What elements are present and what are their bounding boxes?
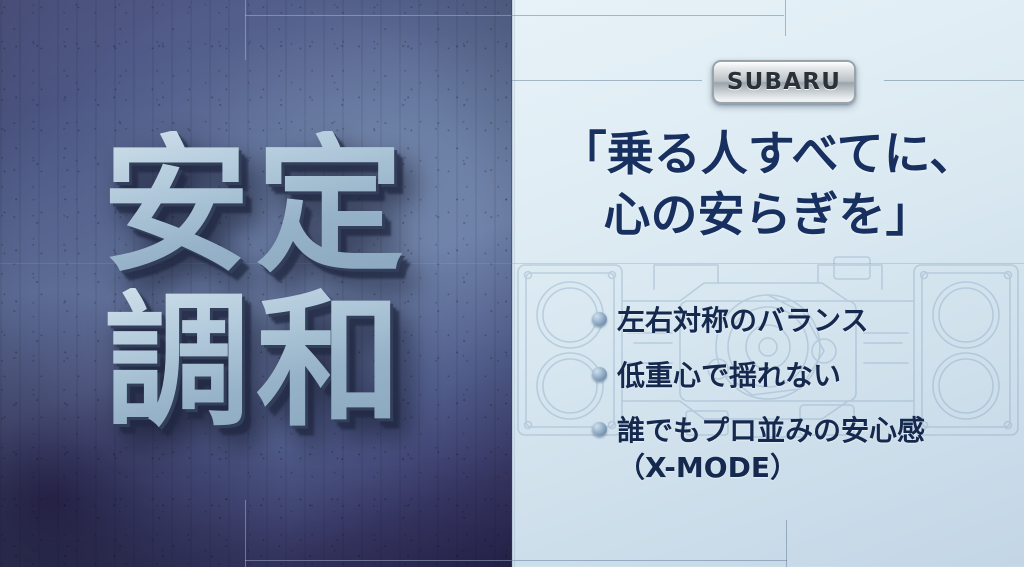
kanji-line-stability: 安定 — [102, 131, 410, 282]
guide-line-right-edge-left — [514, 0, 515, 567]
bullet-label-3-wrap: 誰でもプロ並みの安心感 （X-MODE） — [617, 413, 925, 487]
guide-line-right-vertical-top — [785, 0, 786, 36]
guide-line-right-top-1 — [512, 15, 784, 16]
feature-bullet-list: 左右対称のバランス 低重心で揺れない 誰でもプロ並みの安心感 （X-MODE） — [592, 303, 1012, 505]
list-item: 誰でもプロ並みの安心感 （X-MODE） — [592, 413, 1012, 487]
bullet-label-2: 低重心で揺れない — [617, 358, 841, 395]
headline-line-2: 心の安らぎを」 — [512, 185, 1024, 246]
guide-line-right-bottom — [512, 560, 787, 561]
list-item: 左右対称のバランス — [592, 303, 1012, 340]
panel-divider-seam — [511, 0, 514, 567]
bullet-label-1: 左右対称のバランス — [617, 303, 868, 340]
subaru-brand-badge: SUBARU — [712, 60, 856, 104]
bullet-label-3: 誰でもプロ並みの安心感 — [617, 414, 925, 447]
bullet-dot-icon — [592, 312, 607, 327]
bullet-label-3-sub: （X-MODE） — [617, 450, 925, 487]
kanji-headline-block: 安定 調和 — [0, 0, 512, 567]
bullet-dot-icon — [592, 422, 607, 437]
bullet-dot-icon — [592, 367, 607, 382]
list-item: 低重心で揺れない — [592, 358, 1012, 395]
guide-line-right-mid — [512, 263, 1024, 264]
slide-root: 安定 調和 — [0, 0, 1024, 567]
subaru-badge-label: SUBARU — [727, 69, 841, 95]
guide-line-right-badge-left — [512, 80, 702, 81]
kanji-line-harmony: 調和 — [104, 288, 408, 437]
guide-line-right-badge-right — [884, 80, 1024, 81]
headline-quote: 「乗る人すべてに、 心の安らぎを」 — [512, 124, 1024, 246]
headline-line-1: 「乗る人すべてに、 — [512, 124, 1024, 185]
